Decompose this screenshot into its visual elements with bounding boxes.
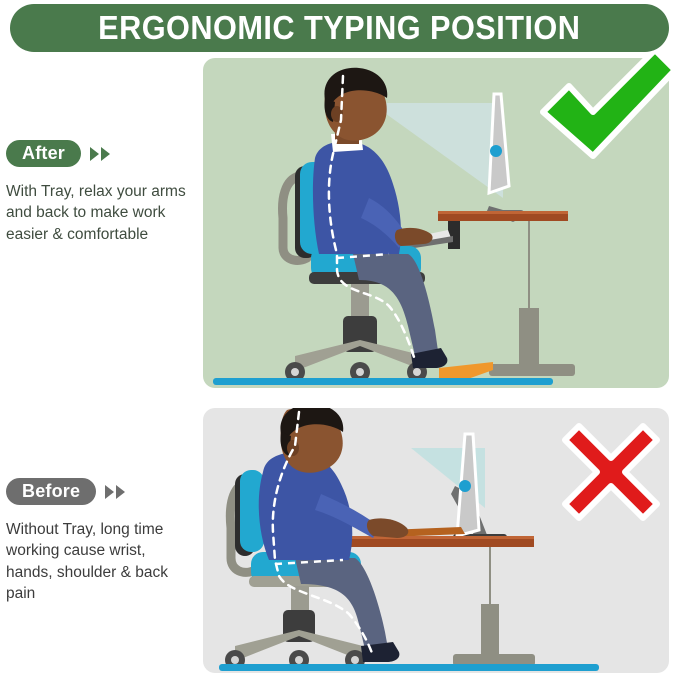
caster-right-hub bbox=[413, 368, 421, 376]
desk-foot bbox=[489, 364, 575, 376]
caster-left-hub bbox=[291, 368, 299, 376]
before-illustration-panel bbox=[203, 408, 669, 673]
good-posture-illustration bbox=[203, 58, 669, 388]
caster-center-hub bbox=[356, 368, 364, 376]
double-play-arrow-icon bbox=[90, 147, 110, 161]
desk-top-highlight bbox=[438, 211, 568, 214]
person-torso bbox=[313, 142, 401, 254]
arrow-triangle-2 bbox=[101, 147, 110, 161]
after-badge: After bbox=[6, 140, 81, 167]
bad-posture-illustration bbox=[203, 408, 669, 673]
after-caption: With Tray, relax your arms and back to m… bbox=[0, 181, 196, 245]
before-label-row: Before bbox=[0, 478, 200, 505]
footrest bbox=[439, 362, 493, 380]
person-ear bbox=[287, 440, 299, 456]
after-label-row: After bbox=[0, 140, 200, 167]
caster-center-hub bbox=[295, 656, 303, 664]
arrow-triangle-1 bbox=[105, 485, 114, 499]
double-play-arrow-icon bbox=[105, 485, 125, 499]
before-caption: Without Tray, long time working cause wr… bbox=[0, 519, 196, 605]
monitor-indicator bbox=[490, 145, 502, 157]
page-title-banner: ERGONOMIC TYPING POSITION bbox=[10, 4, 669, 52]
after-panel-clip bbox=[203, 58, 669, 388]
monitor bbox=[489, 94, 509, 193]
person-hand bbox=[367, 518, 408, 538]
before-label-column: Before Without Tray, long time working c… bbox=[0, 478, 200, 605]
caster-left-hub bbox=[231, 656, 239, 664]
monitor-indicator bbox=[459, 480, 471, 492]
desk-frame bbox=[465, 544, 521, 666]
monitor-screen bbox=[489, 94, 509, 193]
arrow-triangle-1 bbox=[90, 147, 99, 161]
after-label-column: After With Tray, relax your arms and bac… bbox=[0, 140, 200, 245]
floor-line bbox=[219, 664, 599, 671]
person-hand bbox=[395, 228, 433, 246]
seated-person bbox=[259, 408, 409, 662]
desk-frame bbox=[503, 221, 563, 376]
floor-line bbox=[213, 378, 553, 385]
desk-top-highlight bbox=[348, 536, 534, 539]
arrow-triangle-2 bbox=[116, 485, 125, 499]
before-badge: Before bbox=[6, 478, 96, 505]
before-panel-clip bbox=[203, 408, 669, 673]
after-illustration-panel bbox=[203, 58, 669, 388]
caster-right-hub bbox=[351, 656, 359, 664]
page-title: ERGONOMIC TYPING POSITION bbox=[98, 9, 580, 47]
